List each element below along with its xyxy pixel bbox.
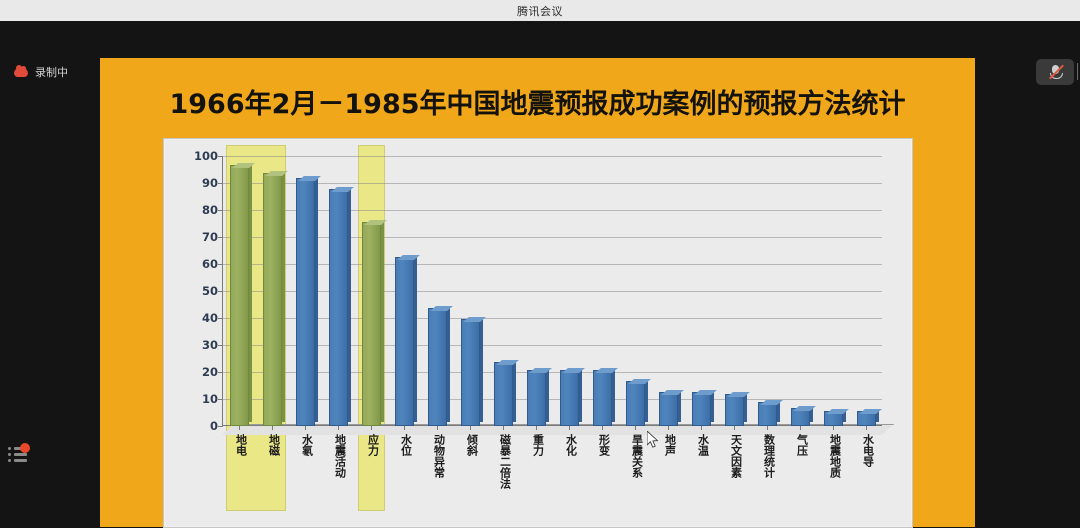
chart-plot-area: 0102030405060708090100地电地磁水氡地震活动应力水位动物异常… [222,156,882,426]
x-axis-tick-label: 动物异常 [431,434,447,478]
bar-front [758,402,777,426]
x-axis [222,425,882,426]
x-axis-tick-mark [371,426,372,430]
y-axis-tick-label: 40 [188,311,218,325]
chart-gridline [222,372,882,373]
x-axis-tick-label: 地磁 [266,434,282,456]
x-axis-tick-label: 磁暴二倍法 [497,434,513,489]
x-axis-tick-mark [437,426,438,430]
list-row [14,453,27,456]
bar-front [527,370,546,426]
chart-bar [527,372,544,426]
x-axis-tick-mark [701,426,702,430]
x-axis-tick-mark [239,426,240,430]
chart-bar [230,167,247,426]
x-axis-tick-label: 地震地质 [827,434,843,478]
chart-bar [725,396,742,426]
chart-bar [428,310,445,426]
y-axis-tick-mark [218,426,223,427]
x-axis-tick-label: 倾斜 [464,434,480,456]
slide-title: 1966年2月－1985年中国地震预报成功案例的预报方法统计 [100,82,975,121]
bar-front [296,178,315,426]
x-axis-tick-label: 数理统计 [761,434,777,478]
x-axis-tick-mark [338,426,339,430]
x-axis-tick-label: 地声 [662,434,678,456]
mic-mute-button[interactable] [1036,59,1074,85]
x-axis-tick-mark [569,426,570,430]
chart-gridline [222,237,882,238]
x-axis-tick-mark [272,426,273,430]
chart-bar [857,413,874,427]
recording-label: 录制中 [35,64,68,80]
chart-bar [362,224,379,427]
bar-front [329,189,348,426]
chart-bar [824,413,841,427]
x-axis-tick-label: 水位 [398,434,414,456]
chart-gridline [222,156,882,157]
chart-bar [593,372,610,426]
y-axis-tick-label: 70 [188,230,218,244]
x-axis-tick-mark [305,426,306,430]
toolbar-divider [1077,63,1078,80]
bar-front [659,392,678,426]
bar-front [428,308,447,426]
y-axis-tick-label: 90 [188,176,218,190]
chart-bar [560,372,577,426]
x-axis-tick-label: 应力 [365,434,381,456]
x-axis-tick-mark [767,426,768,430]
list-row [14,459,27,462]
screen-root: 腾讯会议 录制中 1966年2月－198 [0,0,1080,506]
notification-badge [20,443,30,453]
chart-gridline [222,318,882,319]
y-axis-tick-label: 0 [188,419,218,433]
bullet-dot [8,459,11,462]
mic-muted-icon [1048,64,1063,80]
x-axis-tick-mark [536,426,537,430]
bar-front [494,362,513,426]
chart-bar [329,191,346,426]
chart-gridline [222,264,882,265]
bar-front [230,165,249,426]
chart-bar [692,394,709,426]
bar-front [263,173,282,426]
bar-front [626,381,645,426]
window-title: 腾讯会议 [517,3,563,19]
x-axis-tick-label: 地震活动 [332,434,348,478]
x-axis-tick-label: 地电 [233,434,249,456]
x-axis-tick-mark [470,426,471,430]
x-axis-tick-label: 水温 [695,434,711,456]
x-axis-tick-mark [833,426,834,430]
chart-bar [758,404,775,426]
x-axis-tick-label: 水化 [563,434,579,456]
bar-front [692,392,711,426]
shared-slide: 1966年2月－1985年中国地震预报成功案例的预报方法统计 010203040… [100,58,975,527]
x-axis-tick-label: 天文因素 [728,434,744,478]
bar-front [560,370,579,426]
x-axis-tick-mark [800,426,801,430]
chart-gridline [222,183,882,184]
chart-container: 0102030405060708090100地电地磁水氡地震活动应力水位动物异常… [163,138,913,528]
chart-gridline [222,210,882,211]
y-axis-tick-label: 60 [188,257,218,271]
x-axis-tick-label: 重力 [530,434,546,456]
bullet-dot [8,453,11,456]
chat-list-icon[interactable] [8,445,30,463]
chart-bar [461,321,478,426]
chart-bar [395,259,412,426]
x-axis-tick-label: 形变 [596,434,612,456]
bar-front [362,222,381,427]
x-axis-tick-mark [866,426,867,430]
y-axis-tick-label: 80 [188,203,218,217]
window-title-bar: 腾讯会议 [0,0,1080,22]
bullet-dot [8,447,11,450]
x-axis-tick-label: 旱震关系 [629,434,645,478]
chart-bar [791,410,808,426]
chart-bar [263,175,280,426]
bar-front [461,319,480,426]
y-axis-tick-label: 20 [188,365,218,379]
chart-bar [296,180,313,426]
y-axis-tick-label: 100 [188,149,218,163]
chart-bar [659,394,676,426]
bar-front [725,394,744,426]
chart-gridline [222,345,882,346]
x-axis-tick-mark [404,426,405,430]
x-axis-tick-mark [503,426,504,430]
x-axis-tick-mark [635,426,636,430]
meeting-stage: 录制中 1966年2月－1985年中国地震预报成功案例的预报方法统计 [0,21,1080,506]
x-axis-tick-label: 水氡 [299,434,315,456]
x-axis-tick-mark [734,426,735,430]
bar-front [395,257,414,426]
chart-bar [626,383,643,426]
y-axis [222,156,223,426]
x-axis-tick-mark [602,426,603,430]
x-axis-tick-mark [668,426,669,430]
x-axis-tick-label: 水电导 [860,434,876,467]
y-axis-tick-label: 50 [188,284,218,298]
x-axis-tick-label: 气压 [794,434,810,456]
y-axis-tick-label: 30 [188,338,218,352]
bar-front [593,370,612,426]
mouse-cursor [647,431,659,449]
cloud-record-icon [14,68,28,77]
chart-gridline [222,291,882,292]
chart-bar [494,364,511,426]
recording-indicator: 录制中 [14,62,68,82]
y-axis-tick-label: 10 [188,392,218,406]
